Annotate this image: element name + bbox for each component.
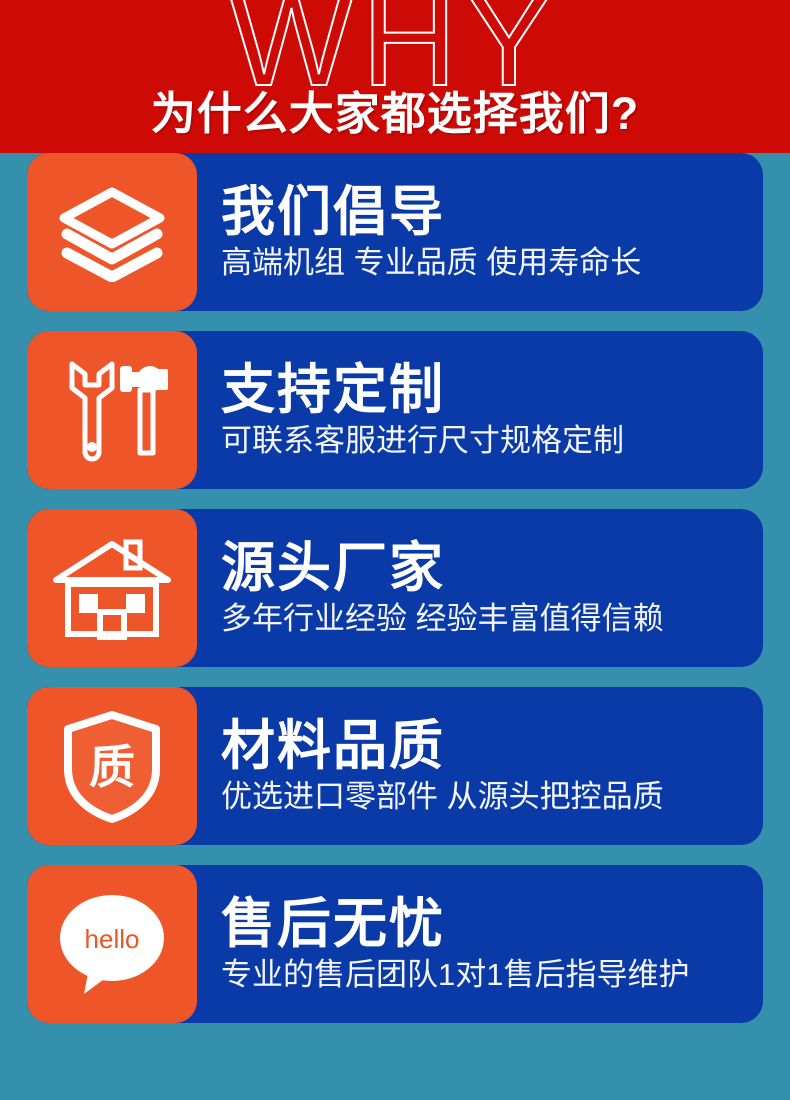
card-text: 源头厂家 多年行业经验 经验丰富值得信赖 <box>197 539 763 637</box>
card-subtitle: 优选进口零部件 从源头把控品质 <box>221 779 749 815</box>
card-title: 材料品质 <box>221 717 749 775</box>
page-title: 为什么大家都选择我们? <box>0 86 790 142</box>
card-subtitle: 高端机组 专业品质 使用寿命长 <box>221 245 749 281</box>
card-title: 我们倡导 <box>221 183 749 241</box>
card-title: 售后无忧 <box>221 895 749 953</box>
feature-card-after-sales[interactable]: hello 售后无忧 专业的售后团队1对1售后指导维护 <box>27 865 763 1023</box>
card-text: 材料品质 优选进口零部件 从源头把控品质 <box>197 717 763 815</box>
card-title: 支持定制 <box>221 361 749 419</box>
card-text: 支持定制 可联系客服进行尺寸规格定制 <box>197 361 763 459</box>
hello-speech-bubble-icon: hello <box>51 886 173 1002</box>
icon-tile: hello <box>27 865 197 1023</box>
card-title: 源头厂家 <box>221 539 749 597</box>
feature-card-advocate[interactable]: 我们倡导 高端机组 专业品质 使用寿命长 <box>27 153 763 311</box>
hello-icon-label: hello <box>85 924 140 954</box>
shield-quality-icon: 质 <box>60 707 164 825</box>
feature-card-manufacturer[interactable]: 源头厂家 多年行业经验 经验丰富值得信赖 <box>27 509 763 667</box>
icon-tile: 质 <box>27 687 197 845</box>
shield-icon-label: 质 <box>89 741 135 793</box>
layers-icon <box>57 182 167 282</box>
feature-card-material-quality[interactable]: 质 材料品质 优选进口零部件 从源头把控品质 <box>27 687 763 845</box>
card-subtitle: 多年行业经验 经验丰富值得信赖 <box>221 601 749 637</box>
house-factory-icon <box>52 536 172 640</box>
header-banner: WHY 为什么大家都选择我们? <box>0 0 790 153</box>
icon-tile <box>27 509 197 667</box>
card-subtitle: 专业的售后团队1对1售后指导维护 <box>221 957 749 993</box>
card-subtitle: 可联系客服进行尺寸规格定制 <box>221 423 749 459</box>
feature-card-list: 我们倡导 高端机组 专业品质 使用寿命长 <box>0 153 790 1043</box>
icon-tile <box>27 153 197 311</box>
card-text: 售后无忧 专业的售后团队1对1售后指导维护 <box>197 895 763 993</box>
card-text: 我们倡导 高端机组 专业品质 使用寿命长 <box>197 183 763 281</box>
icon-tile <box>27 331 197 489</box>
wrench-hammer-icon <box>52 352 172 468</box>
feature-card-customization[interactable]: 支持定制 可联系客服进行尺寸规格定制 <box>27 331 763 489</box>
